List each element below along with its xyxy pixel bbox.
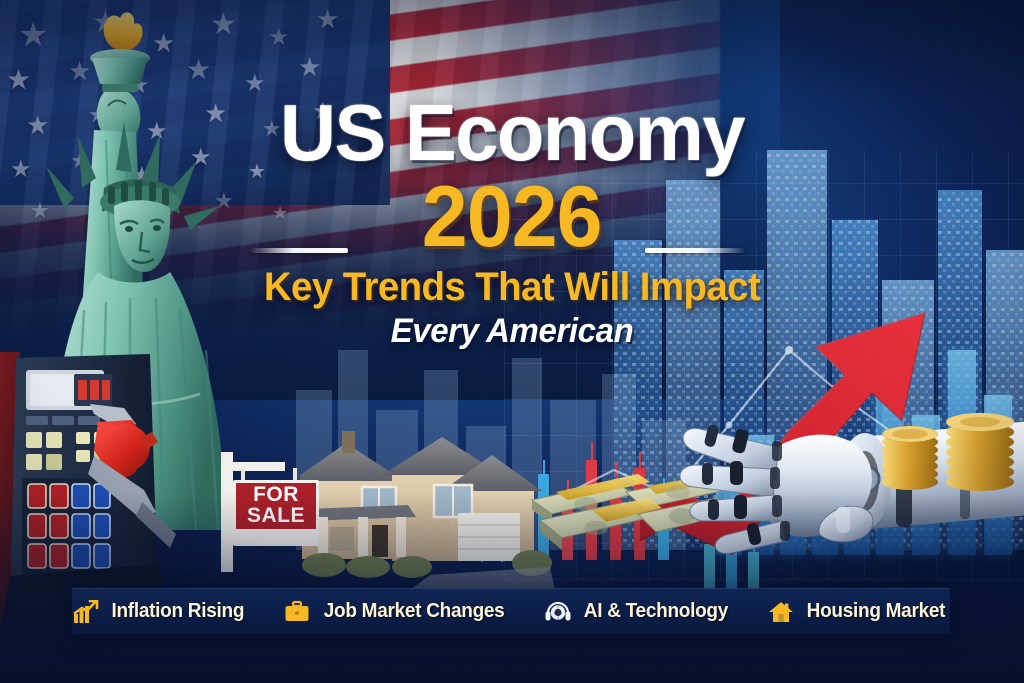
feature-item-ai[interactable]: AI & Technology — [527, 600, 750, 624]
feature-label-inflation: Inflation Rising — [112, 600, 245, 623]
subtitle-line-2: Every American — [15, 312, 1008, 351]
gas-pump-image — [0, 352, 200, 622]
for-sale-sign: FOR SALE — [215, 452, 325, 572]
feature-bar: Inflation Rising Job Market Changes AI &… — [72, 588, 950, 634]
subtitle-line-1: Key Trends That Will Impact — [20, 265, 1003, 310]
divider-right — [645, 248, 745, 253]
feature-label-jobs: Job Market Changes — [324, 600, 505, 623]
house-icon — [768, 600, 794, 624]
briefcase-icon — [284, 600, 310, 624]
feature-label-ai: AI & Technology — [584, 600, 728, 623]
divider-left — [250, 248, 348, 253]
feature-item-inflation[interactable]: Inflation Rising — [55, 600, 266, 624]
feature-label-housing: Housing Market — [807, 600, 946, 623]
page-title: US Economy — [15, 96, 1008, 170]
chart-rising-icon — [73, 600, 99, 624]
title-year: 2026 — [422, 174, 602, 262]
ai-headset-icon — [545, 600, 571, 624]
gold-coin-stacks-image — [880, 400, 1024, 490]
for-sale-line2: SALE — [247, 506, 305, 527]
title-block: US Economy 2026 Key Trends That Will Imp… — [0, 96, 1024, 351]
feature-item-housing[interactable]: Housing Market — [750, 600, 967, 624]
for-sale-line1: FOR — [253, 485, 299, 506]
suburban-house-image — [300, 425, 555, 590]
poster-canvas: ★★★★★★★★★★★★★★★★★★★★★★★★★★★★★ — [0, 0, 1024, 683]
feature-item-jobs[interactable]: Job Market Changes — [266, 600, 527, 624]
